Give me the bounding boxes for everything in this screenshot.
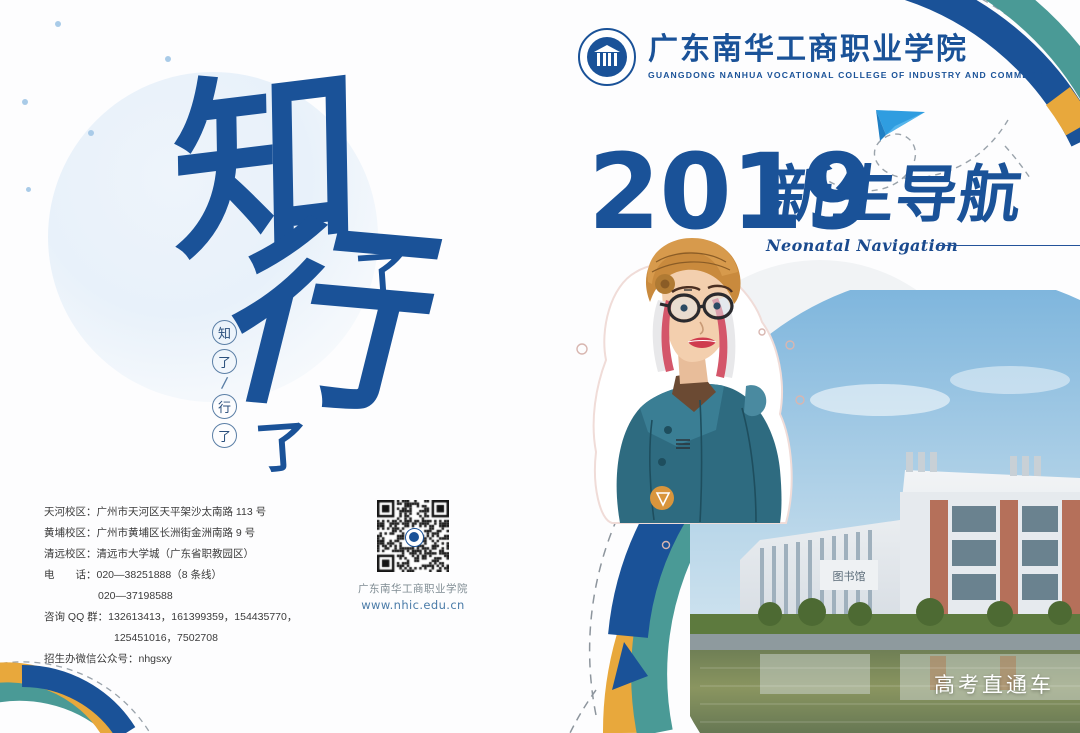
school-name-en: GUANGDONG NANHUA VOCATIONAL COLLEGE OF I… (648, 70, 1051, 80)
qr-block: 广东南华工商职业学院 www.nhic.edu.cn (333, 500, 493, 612)
blue-arc-ring (628, 364, 1040, 636)
school-brand: 广东南华工商职业学院 GUANGDONG NANHUA VOCATIONAL C… (578, 28, 1051, 86)
contact-value: 广州市天河区天平架沙太南路 113 号 (97, 506, 267, 518)
decor-ticks (676, 290, 692, 448)
cover-title: 2019 新生导航 Neonatal Navigation (588, 142, 1058, 272)
contact-value: nhgsxy (139, 653, 172, 665)
mini-char: 行 (212, 394, 237, 419)
qr-caption-url[interactable]: www.nhic.edu.cn (333, 598, 493, 612)
cover-title-en: Neonatal Navigation (766, 236, 958, 255)
contact-label: 清远校区： (44, 544, 97, 565)
contact-label: 黄埔校区： (44, 523, 97, 544)
paper-plane-icon (876, 110, 925, 141)
brochure-cover: 知 行 了 了 知 了 / 行 了 天河校区：广州市天河区天平架沙太南路 113… (0, 0, 1080, 733)
contact-value: 125451016，7502708 (114, 632, 218, 644)
mini-char: 了 (212, 349, 237, 374)
contact-line: 125451016，7502708 (44, 628, 334, 649)
contact-line: 黄埔校区：广州市黄埔区长洲街金洲南路 9 号 (44, 523, 334, 544)
contact-value: 020—38251888（8 条线） (97, 569, 223, 581)
building-sign-text: 图书馆 (833, 569, 866, 583)
dashed-arc-ring-lower (570, 690, 596, 733)
qr-center-logo-icon (405, 528, 424, 547)
school-seal-icon (578, 28, 636, 86)
back-cover-panel: 知 行 了 了 知 了 / 行 了 天河校区：广州市天河区天平架沙太南路 113… (0, 0, 540, 733)
decor-rings (577, 329, 804, 549)
calligraphy-mini-column: 知 了 / 行 了 (212, 318, 237, 450)
decor-dot (22, 99, 28, 105)
contact-value: 广州市黄埔区长洲街金洲南路 9 号 (97, 527, 256, 539)
orange-arc-ring (620, 516, 700, 733)
campus-photo: 图书馆 (690, 290, 1080, 733)
contact-line: 电 话：020—38251888（8 条线） (44, 565, 334, 586)
title-rule (936, 245, 1080, 246)
contact-label: 招生办微信公众号： (44, 649, 139, 670)
contact-value: 清远市大学城（广东省职教园区） (97, 548, 255, 560)
mini-char: 知 (212, 320, 237, 345)
calligraphy-le-top: 了 (353, 248, 411, 306)
blue-arc-end-cap (612, 642, 648, 690)
contact-label: 咨询 QQ 群： (44, 607, 108, 628)
girl-illustration (594, 238, 792, 523)
decor-dot (88, 130, 94, 136)
contact-value: 132613413，161399359，154435770， (108, 611, 297, 623)
contact-line: 清远校区：清远市大学城（广东省职教园区） (44, 544, 334, 565)
calligraphy-le-bottom: 了 (253, 418, 311, 476)
cover-title-cn: 新生导航 (766, 164, 1026, 226)
mini-separator: / (221, 378, 228, 391)
photo-caption: 高考直通车 (934, 669, 1054, 699)
contact-line: 020—37198588 (44, 586, 334, 607)
contact-info-block: 天河校区：广州市天河区天平架沙太南路 113 号黄埔校区：广州市黄埔区长洲街金洲… (44, 502, 334, 670)
contact-line: 招生办微信公众号：nhgsxy (44, 649, 334, 670)
decor-dot (26, 187, 31, 192)
calligraphy-artwork: 知 行 了 了 知 了 / 行 了 (150, 70, 410, 470)
contact-line: 天河校区：广州市天河区天平架沙太南路 113 号 (44, 502, 334, 523)
orange-arc-top (1058, 96, 1079, 128)
dashed-arc-ring (590, 320, 1080, 715)
contact-value: 020—37198588 (98, 590, 173, 602)
mini-char: 了 (212, 423, 237, 448)
decor-dot (55, 21, 61, 27)
contact-line: 咨询 QQ 群：132613413，161399359，154435770， (44, 607, 334, 628)
school-name-cn: 广东南华工商职业学院 (648, 34, 1051, 66)
contact-label: 天河校区： (44, 502, 97, 523)
contact-label: 电 话： (44, 565, 97, 586)
decor-dot (165, 56, 171, 62)
orange-arc-ring-right (1016, 380, 1080, 430)
qr-code-icon[interactable] (377, 500, 449, 572)
qr-caption-school: 广东南华工商职业学院 (333, 581, 493, 596)
watermark-circle (650, 260, 990, 600)
